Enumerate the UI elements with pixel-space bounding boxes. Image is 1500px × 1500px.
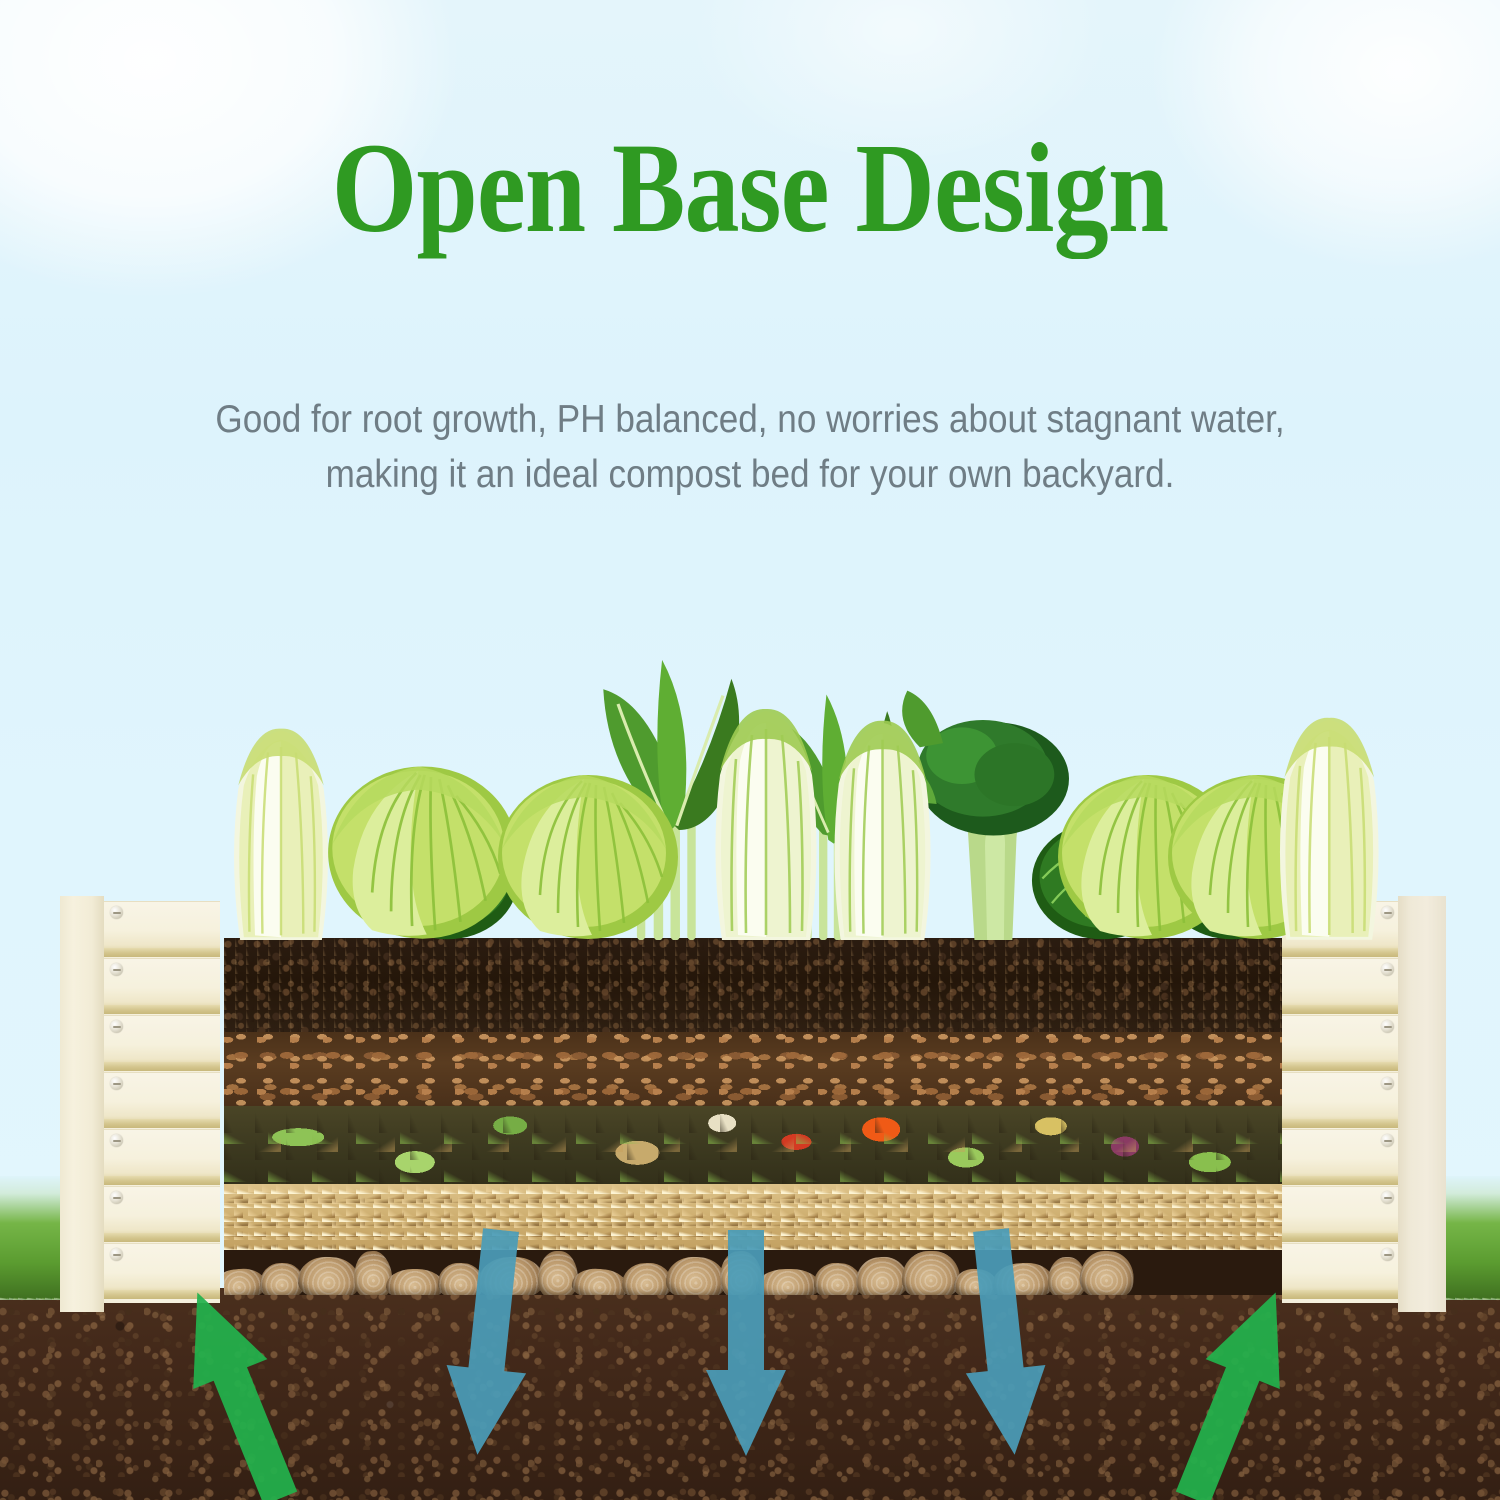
metal-panel-right: [1282, 903, 1400, 1303]
panel-slats-left: [104, 903, 220, 1303]
panel-screw: [1381, 1077, 1394, 1090]
wood-log: [297, 1255, 361, 1295]
wood-log: [386, 1269, 444, 1295]
wood-log: [1078, 1250, 1136, 1295]
page-subtitle: Good for root growth, PH balanced, no wo…: [93, 392, 1407, 503]
panel-slats-right: [1282, 903, 1400, 1303]
layer-kitchen-scraps: [224, 1106, 1284, 1184]
layer-topsoil: [224, 938, 1284, 1032]
plant-green-cabbage: [326, 735, 520, 940]
wood-log: [621, 1262, 672, 1295]
subtitle-line-2: making it an ideal compost bed for your …: [326, 453, 1175, 496]
panel-screw: [110, 1134, 123, 1147]
panel-screw: [1381, 1248, 1394, 1261]
arrow-down-icon: [700, 1230, 792, 1460]
panel-screw: [1381, 963, 1394, 976]
panel-screw: [110, 963, 123, 976]
corner-post-right: [1398, 896, 1446, 1312]
promo-image-canvas: Open Base Design Good for root growth, P…: [0, 0, 1500, 1500]
panel-screw: [1381, 1134, 1394, 1147]
metal-panel-left: [104, 903, 220, 1303]
layer-mulch: [224, 1032, 1284, 1106]
plant-napa-cabbage: [1261, 714, 1398, 940]
page-title: Open Base Design: [105, 124, 1395, 252]
plant-green-cabbage: [496, 745, 681, 940]
panel-screw: [110, 1077, 123, 1090]
panel-screw: [1381, 1020, 1394, 1033]
plant-bok-choy: [816, 717, 949, 940]
panel-screw: [110, 906, 123, 919]
vegetable-row: [176, 628, 1416, 940]
panel-screw: [110, 1020, 123, 1033]
plant-bok-choy: [696, 705, 836, 940]
subtitle-line-1: Good for root growth, PH balanced, no wo…: [215, 398, 1284, 441]
wood-log: [571, 1267, 629, 1295]
corner-post-left: [60, 896, 104, 1312]
panel-screw: [110, 1248, 123, 1261]
panel-screw: [1381, 1191, 1394, 1204]
panel-screw: [110, 1191, 123, 1204]
